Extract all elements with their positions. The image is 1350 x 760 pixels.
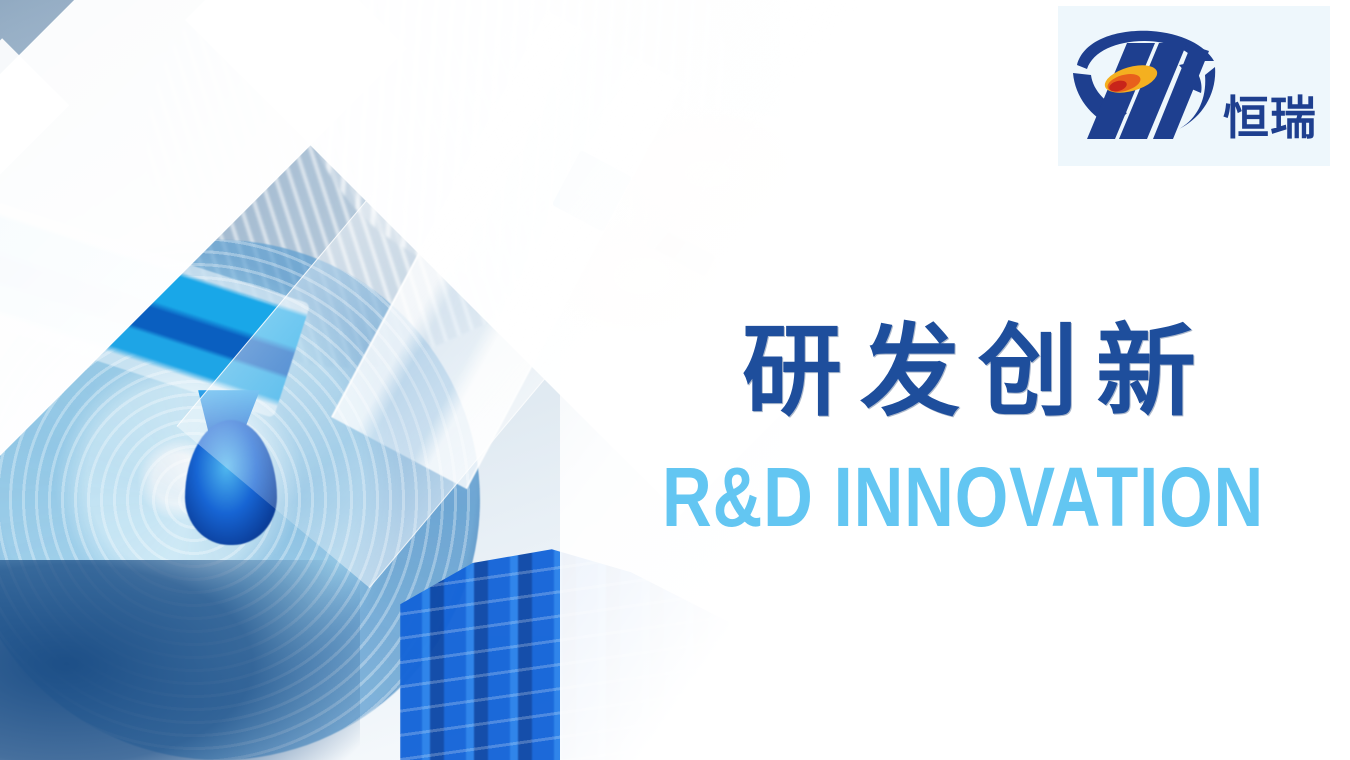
dark-blue-corner — [0, 560, 360, 760]
banner-title-english: R&D INNOVATION — [662, 455, 1264, 539]
hengrui-logo-text: 恒瑞 — [1223, 95, 1317, 141]
hengrui-logo[interactable]: 恒瑞 — [1058, 6, 1330, 166]
hengrui-logo-icon — [1069, 27, 1219, 145]
banner-title-chinese: 研发创新 — [742, 322, 1214, 422]
rd-innovation-banner: 研发创新 R&D INNOVATION 恒瑞 — [0, 0, 1350, 760]
